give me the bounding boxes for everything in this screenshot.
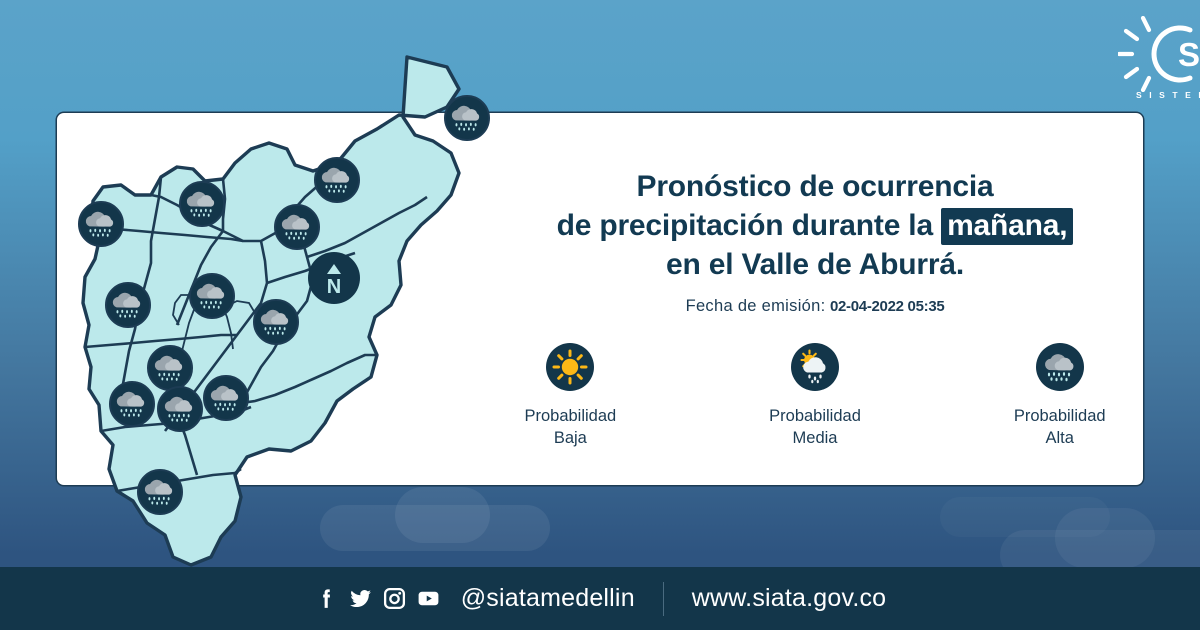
legend-media-line1: Probabilidad (745, 406, 886, 428)
legend-baja-line1: Probabilidad (500, 406, 641, 428)
title-line-2: de precipitación durante la mañana, (500, 206, 1130, 245)
twitter-icon[interactable] (348, 586, 373, 611)
legend-alta-line1: Probabilidad (989, 406, 1130, 428)
legend-label-baja: Probabilidad Baja (500, 406, 641, 450)
facebook-icon[interactable] (314, 586, 339, 611)
siata-logo: SIATA (1118, 16, 1200, 92)
sun-icon (546, 343, 594, 391)
legend-baja-line2: Baja (500, 428, 641, 450)
title-line-1: Pronóstico de ocurrencia (500, 167, 1130, 206)
footer-separator (663, 582, 664, 616)
issue-date-value: 02-04-2022 05:35 (830, 298, 944, 315)
legend-label-alta: Probabilidad Alta (989, 406, 1130, 450)
legend-item-baja: Probabilidad Baja (500, 343, 641, 450)
legend-item-media: Probabilidad Media (745, 343, 886, 450)
legend-media-line2: Media (745, 428, 886, 450)
siata-tagline: S I S T E M A D E A L E R T A T E M P R … (1136, 90, 1200, 104)
footer-row: @siatamedellin www.siata.gov.co (314, 582, 887, 616)
issue-date: Fecha de emisión: 02-04-2022 05:35 (500, 297, 1130, 316)
decorative-cloud (940, 497, 1110, 537)
legend-alta-line2: Alta (989, 428, 1130, 450)
youtube-icon[interactable] (416, 586, 441, 611)
website-url[interactable]: www.siata.gov.co (692, 584, 886, 613)
footer-bar: @siatamedellin www.siata.gov.co (0, 567, 1200, 630)
social-handle[interactable]: @siatamedellin (461, 584, 635, 613)
instagram-icon[interactable] (382, 586, 407, 611)
issue-date-label: Fecha de emisión: (686, 297, 826, 315)
legend-label-media: Probabilidad Media (745, 406, 886, 450)
decorative-cloud (395, 487, 490, 543)
title-highlight: mañana, (941, 208, 1073, 245)
title-line-2-pre: de precipitación durante la (557, 209, 942, 242)
page-title: Pronóstico de ocurrencia de precipitació… (500, 167, 1130, 284)
probability-legend: Probabilidad Baja (500, 343, 1130, 450)
rain-cloud-icon (1036, 343, 1084, 391)
poster-root: SIATA S I S T E M A D E A L E R T A T E … (0, 0, 1200, 630)
sun-rain-cloud-icon (791, 343, 839, 391)
legend-item-alta: Probabilidad Alta (989, 343, 1130, 450)
siata-wordmark: SIATA (1178, 36, 1200, 73)
title-line-3: en el Valle de Aburrá. (500, 245, 1130, 284)
info-panel: Pronóstico de ocurrencia de precipitació… (500, 125, 1130, 475)
